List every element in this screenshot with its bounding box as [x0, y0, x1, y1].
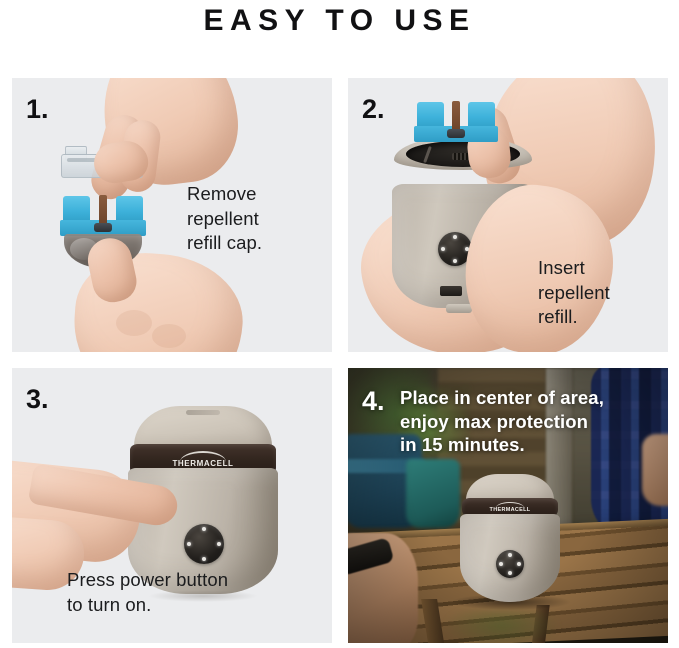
- device-power-button-4[interactable]: [496, 550, 524, 578]
- thermacell-logo-text: THERMACELL: [130, 459, 276, 468]
- step-panel-4: THERMACELL 4. Place in center of area, e…: [348, 368, 668, 643]
- step-number-2: 2.: [362, 94, 385, 125]
- page-title: EASY TO USE: [0, 4, 679, 38]
- hand-knuckle-shading-2: [152, 324, 186, 348]
- device-top-vent: [186, 410, 220, 415]
- step-caption-3: Press power button to turn on.: [67, 568, 327, 617]
- step-number-1: 1.: [26, 94, 49, 125]
- power-led-west: [441, 247, 445, 251]
- refill-stem-cap-2: [447, 129, 465, 138]
- step-panel-2: 2.: [348, 78, 668, 352]
- power-led-east-4: [517, 562, 521, 566]
- hand-knuckle-shading-1: [116, 310, 152, 336]
- power-led-south: [453, 259, 457, 263]
- device-battery-latch: [440, 286, 462, 296]
- step-caption-2: Insert repellent refill.: [538, 256, 668, 330]
- power-led-north-4: [508, 553, 512, 557]
- power-led-west-3: [187, 542, 191, 546]
- device-power-button-3[interactable]: [184, 524, 224, 564]
- thermacell-device-illustration-4: THERMACELL: [460, 474, 560, 602]
- step-caption-1: Remove repellent refill cap.: [187, 182, 327, 256]
- step-number-3: 3.: [26, 384, 49, 415]
- power-led-east-3: [217, 542, 221, 546]
- device-foot: [446, 304, 472, 313]
- power-led-west-4: [499, 562, 503, 566]
- infographic-page: EASY TO USE 1. Remove: [0, 0, 679, 648]
- step-panel-1: 1. Remove repellent refill cap.: [12, 78, 332, 352]
- step-panel-3: 3. THERMACELL Press power button to turn…: [12, 368, 332, 643]
- step-number-4: 4.: [362, 386, 385, 417]
- power-led-north-3: [202, 527, 206, 531]
- repellent-refill-illustration-2: [414, 102, 498, 146]
- power-led-south-4: [508, 571, 512, 575]
- power-led-south-3: [202, 557, 206, 561]
- refill-stem-cap: [94, 223, 112, 232]
- thermacell-logo-text-4: THERMACELL: [462, 507, 558, 513]
- power-led-north: [453, 235, 457, 239]
- step-caption-4: Place in center of area, enjoy max prote…: [400, 386, 665, 457]
